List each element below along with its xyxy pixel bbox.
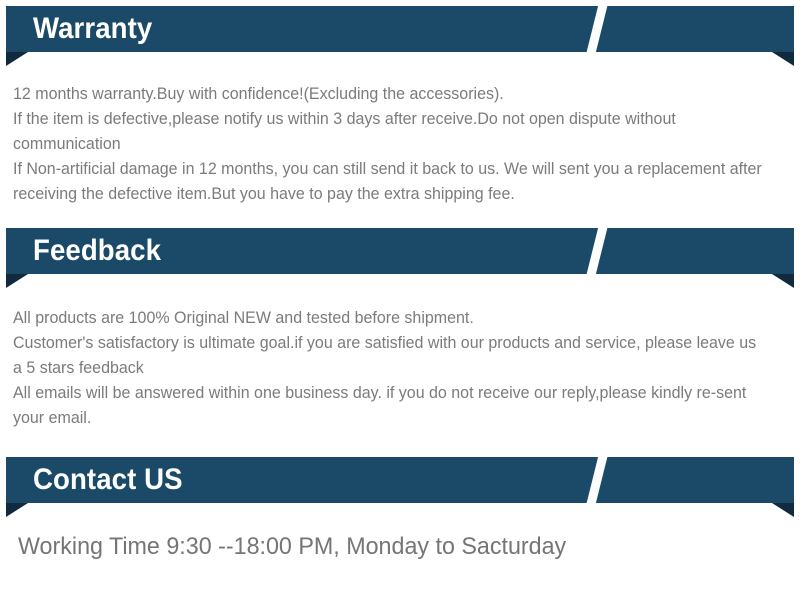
ribbon-fold-left-icon: [6, 274, 28, 288]
ribbon-banner-contact-us: Contact US: [6, 457, 794, 503]
promo-policy-page: Warranty 12 months warranty.Buy with con…: [0, 0, 800, 594]
ribbon-banner-feedback: Feedback: [6, 228, 794, 274]
section-title-contact-us: Contact US: [33, 457, 183, 503]
diagonal-slash-decoration: [584, 228, 609, 274]
section-body-warranty: 12 months warranty.Buy with confidence!(…: [13, 82, 765, 207]
ribbon-banner-warranty: Warranty: [6, 6, 794, 52]
ribbon-fold-right-icon: [772, 52, 794, 66]
section-title-feedback: Feedback: [33, 228, 161, 274]
ribbon-fold-left-icon: [6, 503, 28, 517]
ribbon-fold-left-icon: [6, 52, 28, 66]
diagonal-slash-decoration: [584, 6, 609, 52]
diagonal-slash-decoration: [584, 457, 609, 503]
ribbon-fold-right-icon: [772, 274, 794, 288]
section-title-warranty: Warranty: [33, 6, 152, 52]
working-hours-text: Working Time 9:30 --18:00 PM, Monday to …: [18, 531, 770, 563]
section-body-feedback: All products are 100% Original NEW and t…: [13, 306, 765, 431]
ribbon-fold-right-icon: [772, 503, 794, 517]
